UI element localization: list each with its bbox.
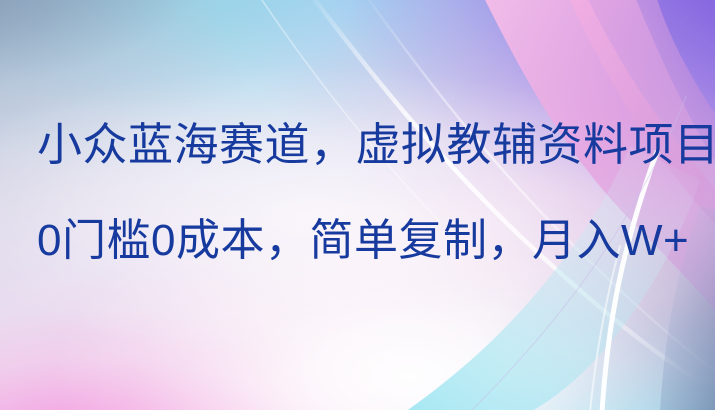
headline-line-1: 小众蓝海赛道，虚拟教辅资料项目 — [37, 122, 697, 169]
headline-line-2: 0门槛0成本，简单复制，月入W+ — [37, 218, 697, 264]
headline-block: 小众蓝海赛道，虚拟教辅资料项目 0门槛0成本，简单复制，月入W+ — [37, 122, 697, 264]
promo-banner: 小众蓝海赛道，虚拟教辅资料项目 0门槛0成本，简单复制，月入W+ — [0, 0, 715, 410]
arc-white-sliver-thin — [590, 246, 620, 410]
